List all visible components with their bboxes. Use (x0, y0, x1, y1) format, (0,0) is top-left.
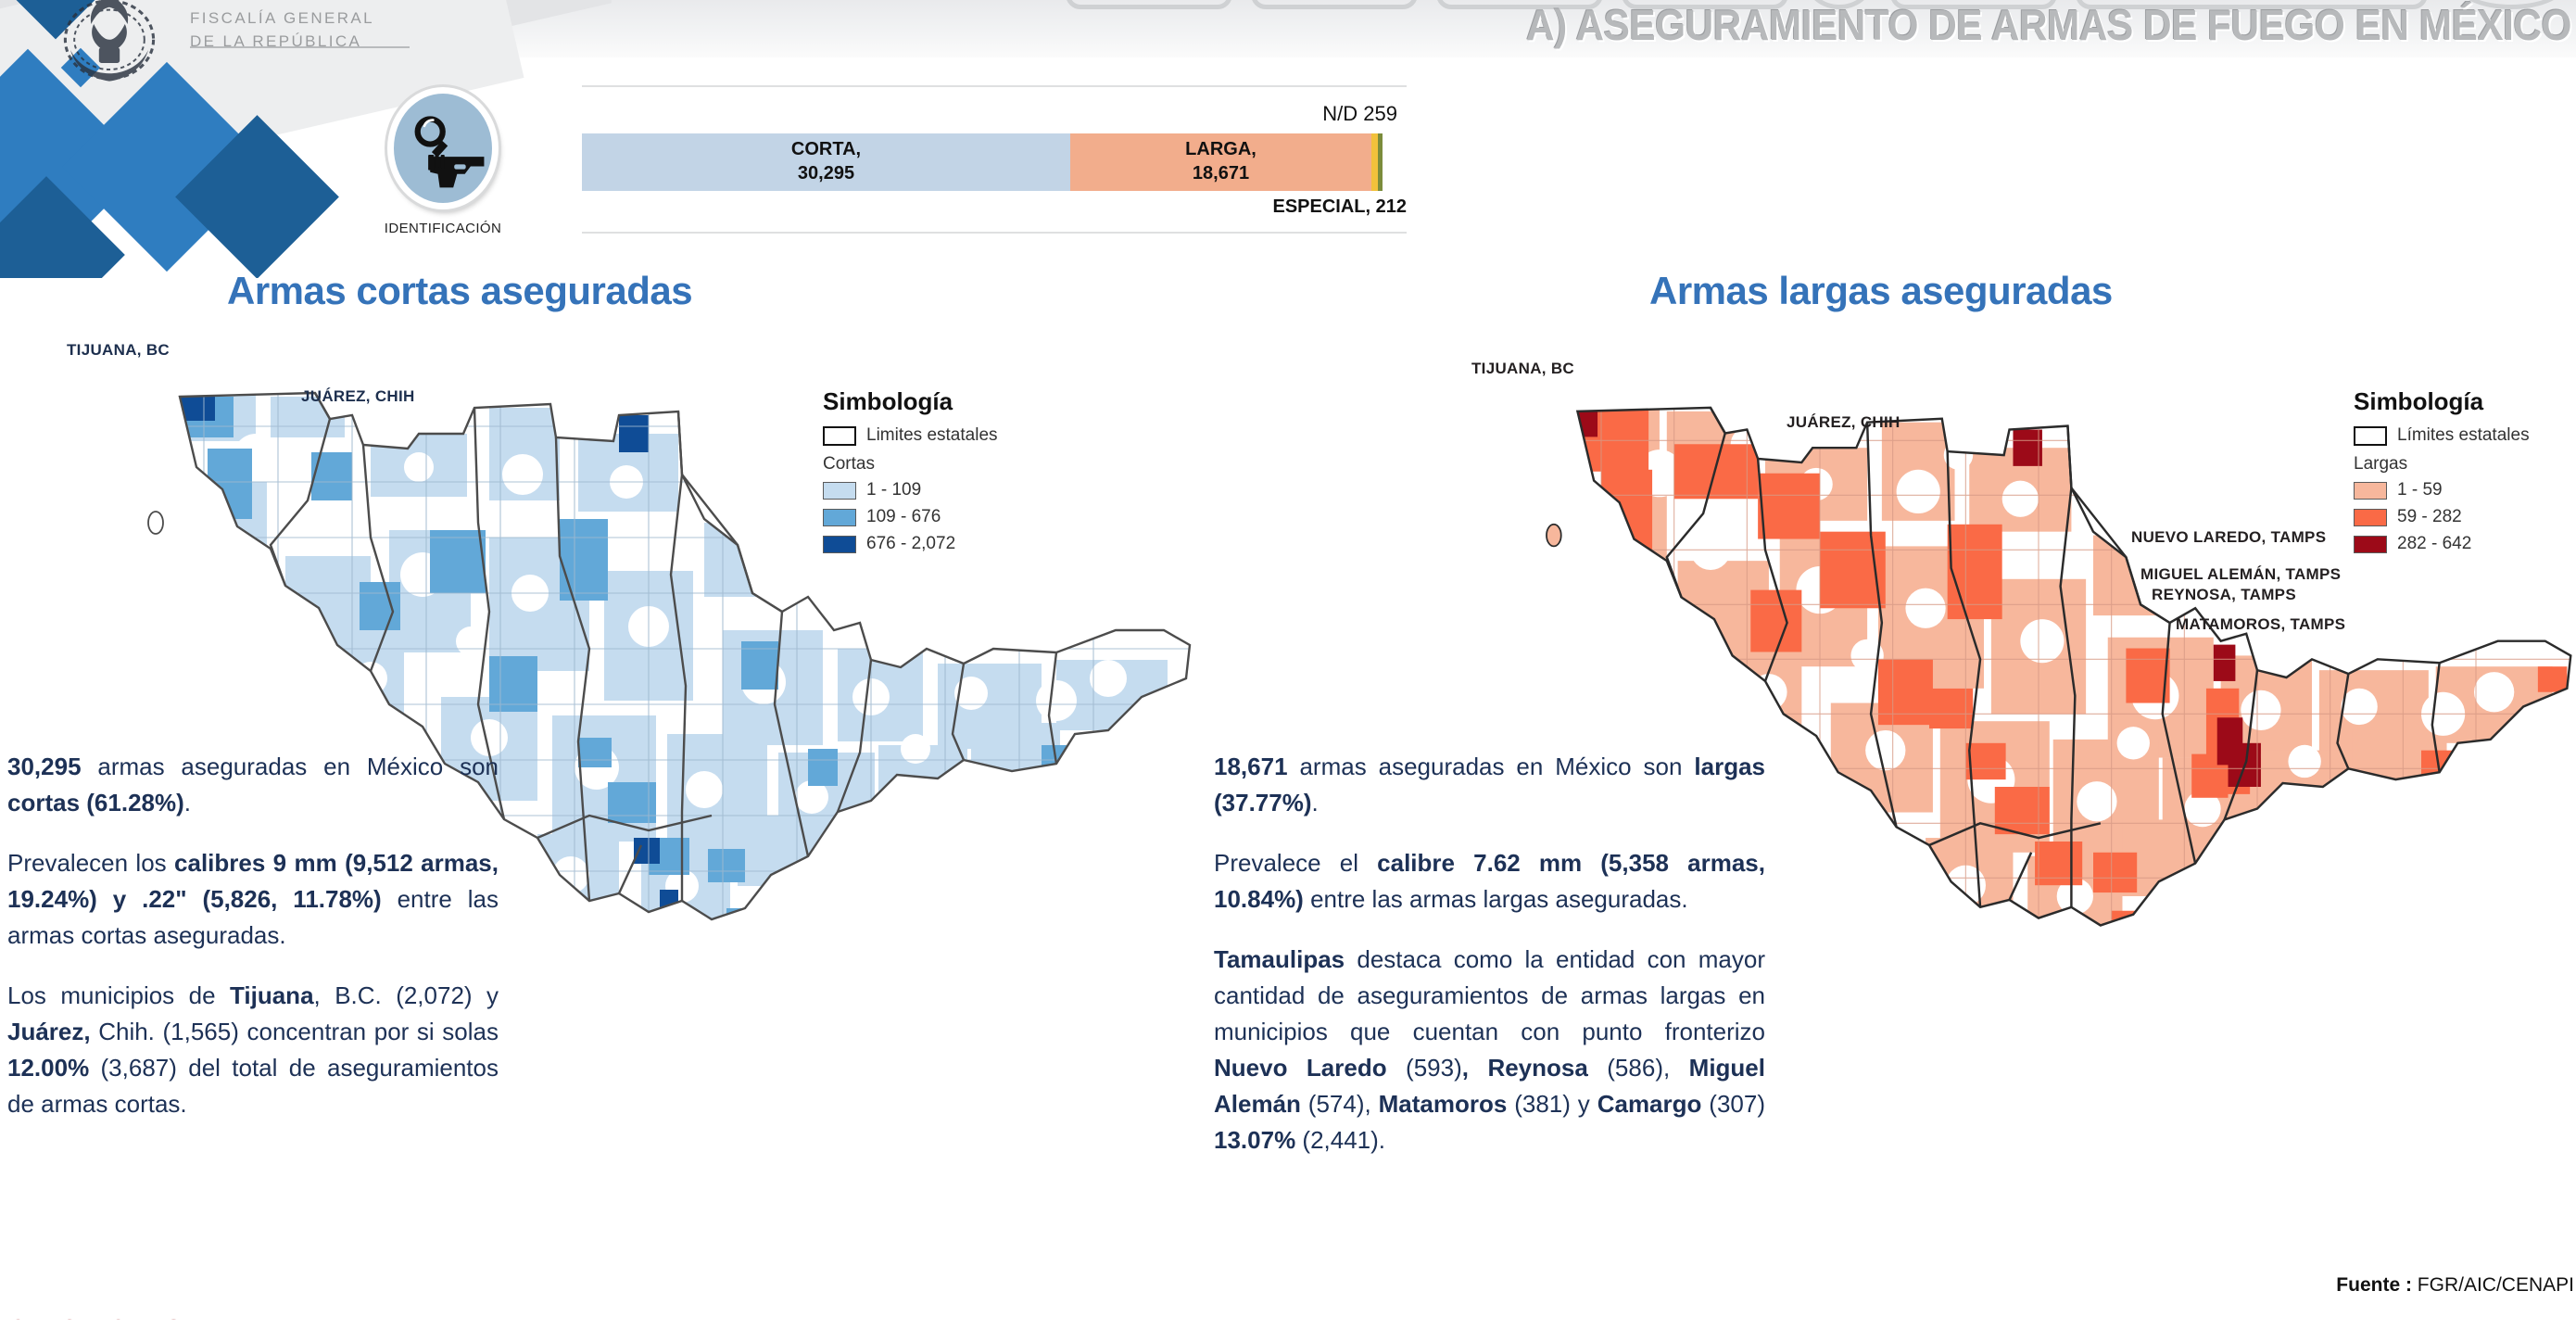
text-run-bold: Nuevo Laredo (1214, 1054, 1387, 1082)
map-city-label-matamoros: MATAMOROS, TAMPS (2176, 615, 2345, 634)
text-run (1469, 1054, 1487, 1082)
text-run: Chih. (1,565) concentran por si solas (91, 1018, 499, 1045)
narrative-cortas: 30,295 armas aseguradas en México son co… (7, 749, 499, 1146)
legend-variable-label: Largas (2354, 454, 2530, 475)
fgr-org-line2: DE LA REPÚBLICA (190, 31, 431, 54)
text-run: . (1312, 789, 1319, 816)
panel-title-largas: Armas largas aseguradas (1649, 269, 2113, 313)
bar-segment-larga[interactable]: LARGA, 18,671 (1070, 133, 1371, 191)
map-city-label-miguel-aleman: MIGUEL ALEMÁN, TAMPS (2140, 565, 2341, 584)
text-run-bold: Tijuana (230, 981, 314, 1009)
text-run-bold: 30,295 (7, 753, 82, 780)
legend-swatch-class-3 (823, 536, 856, 553)
text-run-bold: cortas (61.28%) (7, 789, 184, 816)
legend-row-class-2: 109 - 676 (823, 507, 998, 527)
identification-label: IDENTIFICACIÓN (369, 221, 517, 236)
text-run: . (184, 789, 191, 816)
bar-segment-nd[interactable] (1378, 133, 1383, 191)
text-run: entre las armas largas aseguradas. (1304, 885, 1688, 913)
text-run: (586), (1588, 1054, 1689, 1082)
text-run: (593) (1387, 1054, 1462, 1082)
chart-label-nd: N/D 259 (1212, 102, 1397, 126)
map-city-label-juarez: JUÁREZ, CHIH (301, 387, 415, 406)
text-run-bold: 12.00% (7, 1054, 89, 1082)
bottom-mask (0, 1320, 2576, 1329)
text-run-bold: Camargo (1597, 1090, 1702, 1118)
text-run: (2,441). (1295, 1126, 1385, 1154)
narrative-largas: 18,671 armas aseguradas en México son la… (1214, 749, 1765, 1183)
fgr-org-line1: FISCALÍA GENERAL (190, 7, 431, 31)
text-run: , B.C. (2,072) y (314, 981, 499, 1009)
chart-rule-top (582, 85, 1407, 87)
text-run: Los municipios de (7, 981, 230, 1009)
legend-label-class-1: 1 - 59 (2397, 480, 2443, 500)
legend-swatch-boundary (2354, 426, 2387, 446)
text-run: (307) (1701, 1090, 1765, 1118)
page-title: A) ASEGURAMIENTO DE ARMAS DE FUEGO EN MÉ… (1242, 0, 2571, 52)
source-label: Fuente : (2336, 1274, 2412, 1296)
legend-label-class-2: 109 - 676 (866, 507, 941, 527)
map-city-label-tijuana: TIJUANA, BC (1471, 360, 1574, 378)
map-city-label-tijuana: TIJUANA, BC (67, 341, 170, 360)
legend-swatch-class-3 (2354, 536, 2387, 553)
chart-label-especial: ESPECIAL, 212 (1138, 196, 1407, 218)
paragraph: Los municipios de Tijuana, B.C. (2,072) … (7, 978, 499, 1122)
weapon-type-stacked-bar-chart: N/D 259 CORTA, 30,295 LARGA, 18,671 ESPE… (582, 85, 1407, 234)
mexican-coat-of-arms-icon (44, 0, 174, 102)
bar-segment-corta[interactable]: CORTA, 30,295 (582, 133, 1070, 191)
legend-label-class-3: 282 - 642 (2397, 534, 2471, 554)
text-run: (574), (1301, 1090, 1379, 1118)
legend-row-class-2: 59 - 282 (2354, 507, 2530, 527)
slide-page: A) ASEGURAMIENTO DE ARMAS DE FUEGO EN MÉ… (0, 0, 2576, 1329)
legend-row-boundary: Limites estatales (823, 425, 998, 446)
bar-segment-corta-name: CORTA, (791, 138, 861, 162)
source-note: Fuente : FGR/AIC/CENAPI (2336, 1274, 2574, 1297)
legend-row-class-1: 1 - 59 (2354, 480, 2530, 500)
text-run-bold: , (1462, 1054, 1469, 1082)
identification-badge: IDENTIFICACIÓN (369, 87, 517, 236)
text-run-bold: Juárez, (7, 1018, 91, 1045)
text-run-bold: Tamaulipas (1214, 945, 1345, 973)
fgr-branding-zone: FISCALÍA GENERAL DE LA REPÚBLICA (0, 0, 612, 278)
legend-swatch-class-2 (823, 509, 856, 526)
bar-segment-larga-name: LARGA, (1185, 138, 1256, 162)
legend-row-boundary: Límites estatales (2354, 425, 2530, 446)
legend-label-class-2: 59 - 282 (2397, 507, 2462, 527)
text-run: armas aseguradas en México son (82, 753, 499, 780)
text-run: (381) y (1507, 1090, 1597, 1118)
bar-segment-corta-value: 30,295 (798, 162, 854, 186)
text-run: Prevalecen los (7, 849, 174, 877)
map-legend-cortas: Simbología Limites estatales Cortas 1 - … (823, 387, 998, 561)
paragraph: 18,671 armas aseguradas en México son la… (1214, 749, 1765, 821)
legend-label-boundary: Limites estatales (866, 425, 998, 446)
source-value: FGR/AIC/CENAPI (2412, 1274, 2574, 1296)
panel-title-cortas: Armas cortas aseguradas (227, 269, 692, 313)
map-city-label-juarez: JUÁREZ, CHIH (1787, 413, 1900, 432)
legend-swatch-boundary (823, 426, 856, 446)
legend-label-boundary: Límites estatales (2397, 425, 2530, 446)
legend-title: Simbología (823, 387, 998, 416)
map-city-label-reynosa: REYNOSA, TAMPS (2152, 586, 2296, 604)
legend-label-class-3: 676 - 2,072 (866, 534, 955, 554)
legend-swatch-class-1 (823, 482, 856, 500)
text-run-bold: 13.07% (1214, 1126, 1295, 1154)
map-legend-largas: Simbología Límites estatales Largas 1 - … (2354, 387, 2530, 561)
magnifier-handgun-icon (387, 87, 499, 209)
legend-swatch-class-1 (2354, 482, 2387, 500)
legend-swatch-class-2 (2354, 509, 2387, 526)
paragraph: Tamaulipas destaca como la entidad con m… (1214, 942, 1765, 1158)
map-city-label-nuevo-laredo: NUEVO LAREDO, TAMPS (2131, 528, 2326, 547)
text-run-bold: Matamoros (1379, 1090, 1508, 1118)
paragraph: Prevalecen los calibres 9 mm (9,512 arma… (7, 845, 499, 954)
legend-row-class-3: 282 - 642 (2354, 534, 2530, 554)
bar-segment-especial[interactable] (1371, 133, 1378, 191)
chart-rule-bottom (582, 232, 1407, 234)
text-run-bold: Reynosa (1487, 1054, 1587, 1082)
legend-title: Simbología (2354, 387, 2530, 416)
fgr-underline (190, 46, 410, 48)
chart-label-nd-text: N/D 259 (1322, 102, 1397, 125)
text-run: Prevalece el (1214, 849, 1377, 877)
text-run-bold: 18,671 (1214, 753, 1288, 780)
legend-label-class-1: 1 - 109 (866, 480, 921, 500)
paragraph: 30,295 armas aseguradas en México son co… (7, 749, 499, 821)
paragraph: Prevalece el calibre 7.62 mm (5,358 arma… (1214, 845, 1765, 918)
legend-row-class-3: 676 - 2,072 (823, 534, 998, 554)
legend-variable-label: Cortas (823, 454, 998, 475)
chart-bar-row: CORTA, 30,295 LARGA, 18,671 (582, 133, 1386, 191)
bar-segment-larga-value: 18,671 (1193, 162, 1249, 186)
legend-row-class-1: 1 - 109 (823, 480, 998, 500)
text-run: armas aseguradas en México son (1288, 753, 1695, 780)
